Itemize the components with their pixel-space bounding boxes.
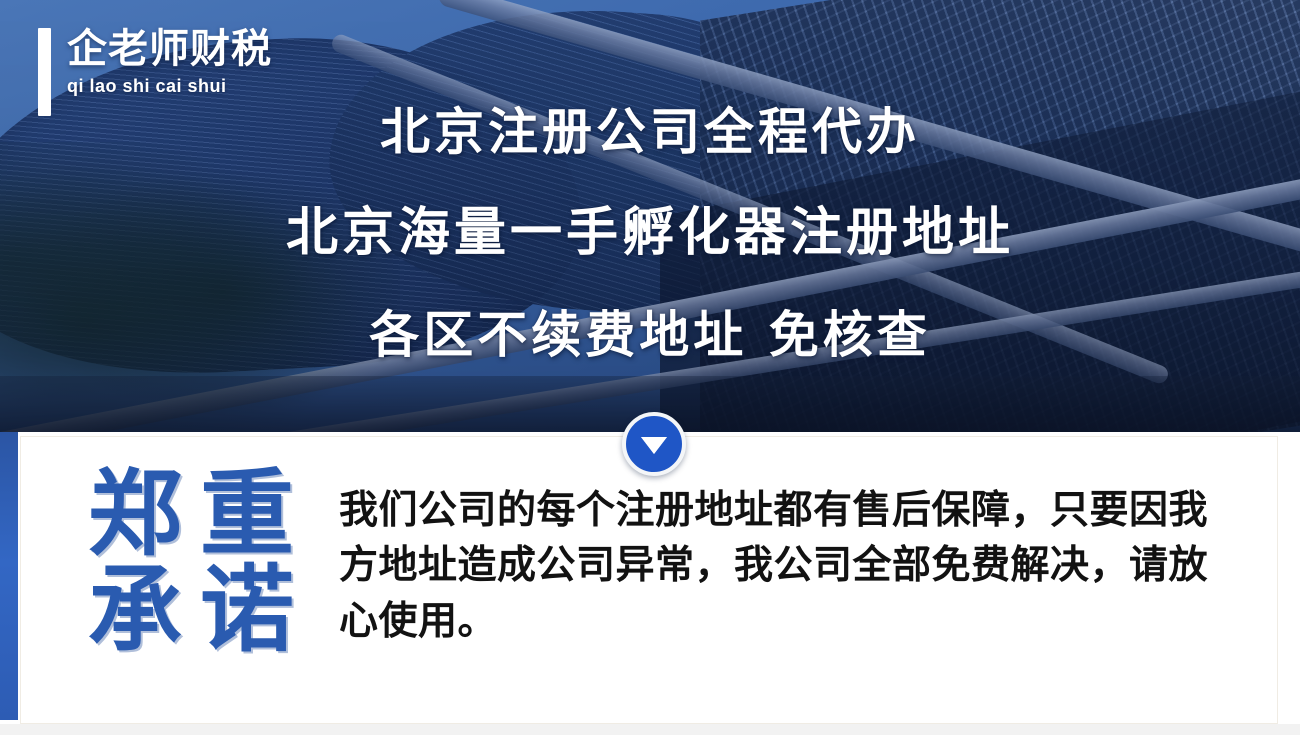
logo-name-cn: 企老师财税 <box>67 28 272 70</box>
triangle-down-icon <box>641 437 667 454</box>
promise-section: 郑 重 承 诺 我们公司的每个注册地址都有售后保障，只要因我方地址造成公司异常，… <box>0 432 1300 735</box>
promise-body-text: 我们公司的每个注册地址都有售后保障，只要因我方地址造成公司异常，我公司全部免费解… <box>339 483 1237 649</box>
hero-banner: 企老师财税 qi lao shi cai shui 北京注册公司全程代办 北京海… <box>0 0 1300 432</box>
promise-mark-char-3: 承 <box>83 565 187 657</box>
left-accent-strip <box>0 432 18 720</box>
promise-mark-char-1: 郑 <box>83 469 187 561</box>
hero-headline-group: 北京注册公司全程代办 北京海量一手孵化器注册地址 各区不续费地址 免核查 <box>0 92 1300 367</box>
promise-mark-char-4: 诺 <box>195 565 299 657</box>
promise-mark: 郑 重 承 诺 <box>83 469 299 657</box>
scroll-down-badge[interactable] <box>622 412 686 476</box>
hero-headline-1: 北京注册公司全程代办 <box>380 92 920 164</box>
hero-headline-2: 北京海量一手孵化器注册地址 <box>286 190 1014 265</box>
promise-mark-char-2: 重 <box>195 469 299 561</box>
logo-text-group: 企老师财税 qi lao shi cai shui <box>67 28 272 97</box>
promise-card: 郑 重 承 诺 我们公司的每个注册地址都有售后保障，只要因我方地址造成公司异常，… <box>20 436 1278 724</box>
bottom-filler-bar <box>0 724 1300 735</box>
page-root: 企老师财税 qi lao shi cai shui 北京注册公司全程代办 北京海… <box>0 0 1300 735</box>
hero-headline-3: 各区不续费地址 免核查 <box>369 295 930 367</box>
